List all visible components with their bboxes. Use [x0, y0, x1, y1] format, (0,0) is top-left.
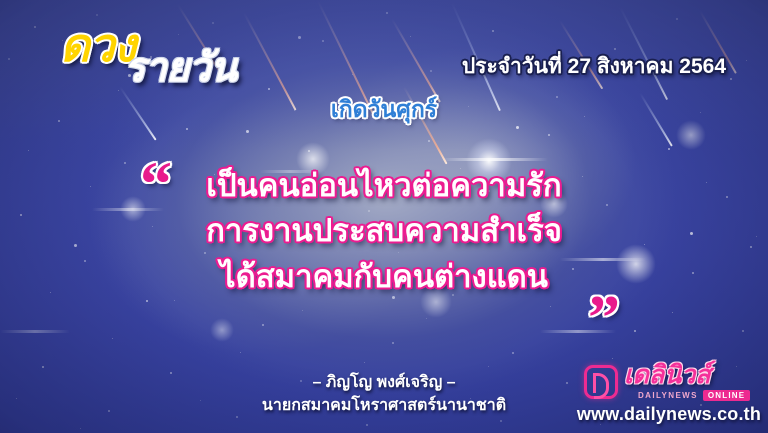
- logo-latin-name: DAILYNEWS: [638, 391, 698, 400]
- brand-title: ดวง รายวัน: [52, 22, 272, 90]
- logo-lockup: เดลินิวส์ DAILYNEWS ONLINE: [584, 363, 750, 401]
- logo-thai-name: เดลินิวส์: [624, 363, 750, 388]
- logo-online-badge: ONLINE: [703, 390, 750, 401]
- horoscope-text: เป็นคนอ่อนไหวต่อความรัก การงานประสบความส…: [0, 163, 768, 299]
- horoscope-line-3: ได้สมาคมกับคนต่างแดน: [0, 254, 768, 299]
- brand-word-raiwan: รายวัน: [124, 48, 236, 88]
- logo-subline: DAILYNEWS ONLINE: [624, 390, 750, 401]
- horoscope-line-2: การงานประสบความสำเร็จ: [0, 208, 768, 253]
- horoscope-line-1: เป็นคนอ่อนไหวต่อความรัก: [0, 163, 768, 208]
- birthday-weekday-label: เกิดวันศุกร์: [0, 92, 768, 128]
- horoscope-card: ดวง รายวัน ประจำวันที่ 27 สิงหาคม 2564 เ…: [0, 0, 768, 433]
- dailynews-d-mark-icon: [584, 365, 618, 399]
- website-url[interactable]: www.dailynews.co.th: [576, 404, 762, 425]
- date-label: ประจำวันที่ 27 สิงหาคม 2564: [462, 50, 726, 83]
- dailynews-logo[interactable]: เดลินิวส์ DAILYNEWS ONLINE www.dailynews…: [576, 361, 762, 427]
- logo-wordmark: เดลินิวส์ DAILYNEWS ONLINE: [624, 363, 750, 401]
